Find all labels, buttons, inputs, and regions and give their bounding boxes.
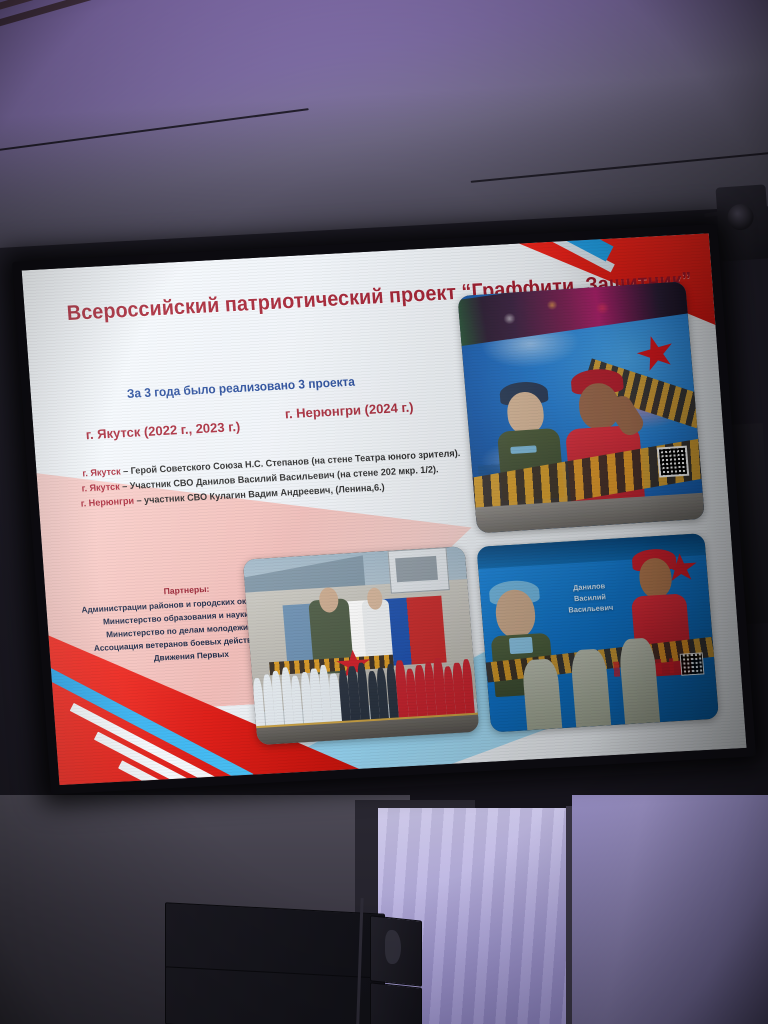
city-neryungri-label: г. Нерюнгри (2024 г.) <box>284 399 414 421</box>
city-yakutsk-label: г. Якутск (2022 г., 2023 г.) <box>85 419 240 442</box>
mural-child-figure <box>522 659 562 731</box>
photo-graffiti-mural <box>457 281 704 533</box>
presentation-screen: Всероссийский патриотический проект “Гра… <box>12 224 756 795</box>
wall-mounted-speaker <box>715 184 768 261</box>
speaker-horn <box>385 930 401 964</box>
photo-group-at-mural <box>243 546 480 745</box>
group-photo-window <box>387 547 450 593</box>
blue-mural-children <box>520 626 660 730</box>
mural-child-figure <box>619 637 660 724</box>
photo-blue-mural: ДаниловВасилийВасильевич <box>476 533 719 732</box>
slide-canvas: Всероссийский патриотический проект “Гра… <box>22 233 747 785</box>
speaker-side-lower <box>370 982 422 1024</box>
screen-display-area: Всероссийский патриотический проект “Гра… <box>22 233 747 785</box>
hall-scene: Всероссийский патриотический проект “Гра… <box>0 0 768 1024</box>
slide-subtitle: За 3 года было реализовано 3 проекта <box>126 375 355 401</box>
mural-qr-code-icon <box>657 446 689 478</box>
right-pillar <box>572 795 768 1024</box>
blue-mural-inscription: ДаниловВасилийВасильевич <box>566 580 613 616</box>
mural-child-figure <box>570 648 611 727</box>
blue-mural-qr-code-icon <box>680 652 704 676</box>
